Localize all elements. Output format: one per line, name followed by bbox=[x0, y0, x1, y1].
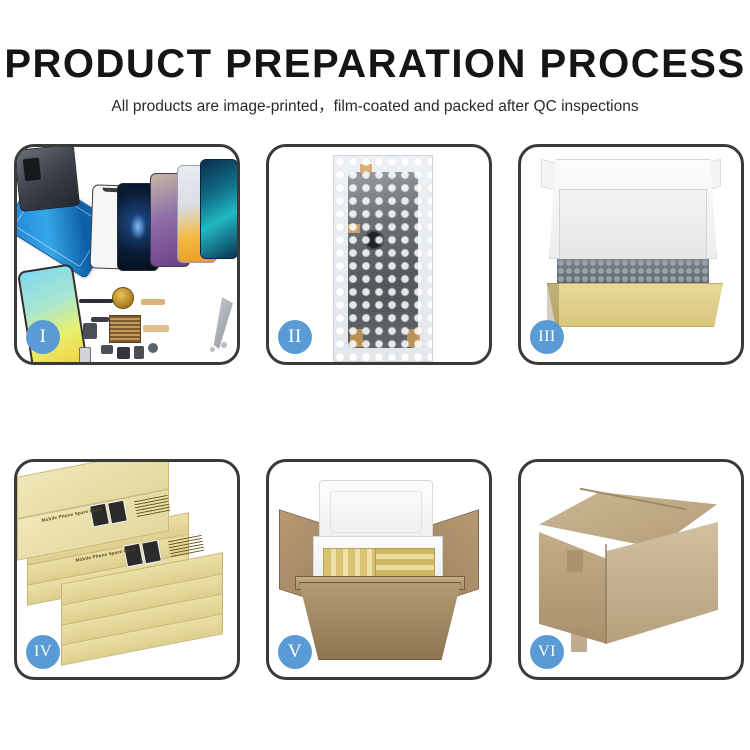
flex-cable-part bbox=[79, 299, 113, 303]
box-lid-inner bbox=[559, 189, 707, 261]
process-step-4[interactable]: Mobile Phone Spare Parts Mobile Phone Sp… bbox=[14, 459, 240, 680]
bubble-wrapped-contents bbox=[557, 259, 709, 285]
process-step-3[interactable]: III bbox=[518, 144, 744, 365]
process-step-5[interactable]: V bbox=[266, 459, 492, 680]
tweezers-tool bbox=[207, 297, 233, 349]
screw-part bbox=[221, 342, 227, 348]
step-badge-4: IV bbox=[26, 635, 60, 669]
step-badge-6: VI bbox=[530, 635, 564, 669]
box-edge-shadow bbox=[547, 283, 559, 325]
small-component-part bbox=[91, 317, 109, 322]
carton-body bbox=[299, 582, 461, 660]
flex-cable-part bbox=[143, 325, 169, 332]
carton-tape-patch bbox=[567, 550, 583, 572]
connector-chip-part bbox=[109, 315, 141, 343]
kraft-box-base bbox=[547, 283, 723, 327]
bubble-texture-overlay bbox=[334, 156, 432, 361]
small-component-part bbox=[101, 345, 113, 354]
step-badge-2: II bbox=[278, 320, 312, 354]
header: PRODUCT PREPARATION PROCESS All products… bbox=[0, 0, 750, 115]
screw-part bbox=[210, 347, 215, 352]
bubble-wrap-bag bbox=[333, 155, 433, 362]
page-title: PRODUCT PREPARATION PROCESS bbox=[0, 0, 750, 84]
step-badge-3: III bbox=[530, 320, 564, 354]
process-grid: I II bbox=[14, 144, 740, 680]
foam-cooler-lid bbox=[319, 480, 433, 544]
speaker-coil-part bbox=[112, 287, 134, 309]
small-component-part bbox=[148, 343, 158, 353]
process-step-1[interactable]: I bbox=[14, 144, 240, 365]
step-badge-5: V bbox=[278, 635, 312, 669]
carton-tape-patch bbox=[571, 630, 587, 652]
page-subtitle: All products are image-printed，film-coat… bbox=[0, 84, 750, 115]
phone-display-teal bbox=[200, 159, 238, 259]
process-step-6[interactable]: VI bbox=[518, 459, 744, 680]
carton-left-face bbox=[539, 532, 607, 644]
step-badge-1: I bbox=[26, 320, 60, 354]
small-component-part bbox=[83, 323, 97, 339]
small-component-part bbox=[79, 347, 91, 363]
infographic-page: PRODUCT PREPARATION PROCESS All products… bbox=[0, 0, 750, 750]
carton-vertical-edge bbox=[605, 544, 607, 644]
process-step-2[interactable]: II bbox=[266, 144, 492, 365]
phone-rear-housing bbox=[14, 144, 80, 212]
flex-cable-part bbox=[141, 299, 165, 305]
small-component-part bbox=[134, 346, 144, 359]
small-component-part bbox=[117, 347, 130, 359]
